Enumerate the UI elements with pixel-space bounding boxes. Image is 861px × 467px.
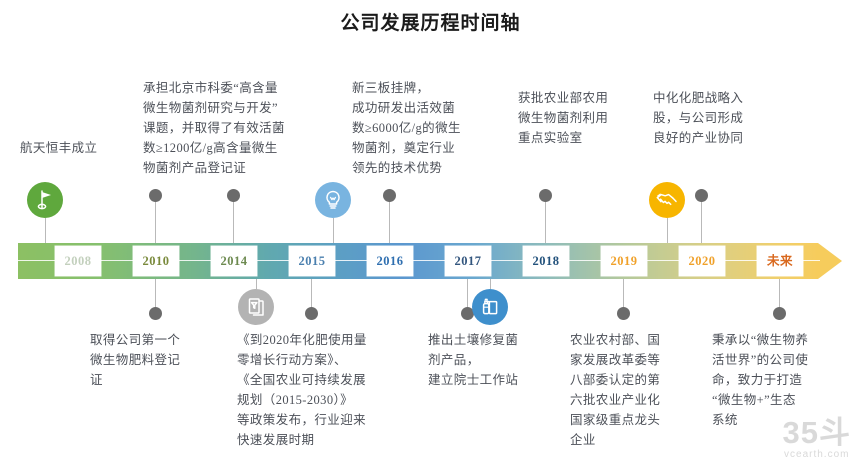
dot-below-2015[interactable] [305, 307, 318, 320]
year-chip-2010[interactable]: 2010 [133, 246, 179, 276]
product-icon[interactable] [472, 289, 508, 325]
connector-stem [701, 200, 702, 244]
dot-below-future[interactable] [773, 307, 786, 320]
watermark-logo: 35斗 [783, 418, 851, 448]
connector-stem [623, 279, 624, 309]
year-chip-2017[interactable]: 2017 [445, 246, 491, 276]
note-2018: 获批农业部农用 微生物菌剂利用 重点实验室 [518, 88, 658, 148]
connector-stem [467, 279, 468, 309]
year-chip-2014[interactable]: 2014 [211, 246, 257, 276]
connector-stem [233, 200, 234, 244]
year-chip-2018[interactable]: 2018 [523, 246, 569, 276]
note-2008: 航天恒丰成立 [20, 138, 140, 158]
connector-stem [333, 218, 334, 244]
note-2020: 中化化肥战略入 股，与公司形成 良好的产业协同 [653, 88, 793, 148]
connector-stem [155, 279, 156, 309]
dot-2010[interactable] [149, 189, 162, 202]
connector-stem [155, 200, 156, 244]
year-chip-未来[interactable]: 未来 [757, 246, 803, 276]
flag-icon[interactable] [27, 182, 63, 218]
year-chip-2020[interactable]: 2020 [679, 246, 725, 276]
connector-stem [311, 279, 312, 309]
timeline-arrow-head [818, 243, 842, 279]
connector-stem [490, 279, 491, 289]
year-chip-2016[interactable]: 2016 [367, 246, 413, 276]
note-below-2017: 推出土壤修复菌 剂产品， 建立院士工作站 [428, 330, 568, 390]
timeline-infographic: 公司发展历程时间轴 航天恒丰成立承担北京市科委“高含量 微生物菌剂研究与开发” … [0, 0, 861, 467]
dot-below-2010[interactable] [149, 307, 162, 320]
connector-stem [256, 279, 257, 289]
document-icon[interactable] [238, 289, 274, 325]
year-chip-2015[interactable]: 2015 [289, 246, 335, 276]
dot-2020[interactable] [695, 189, 708, 202]
dot-2016[interactable] [383, 189, 396, 202]
connector-stem [545, 200, 546, 244]
note-below-2010: 取得公司第一个 微生物肥料登记 证 [90, 330, 220, 390]
connector-stem [45, 218, 46, 244]
note-2010: 承担北京市科委“高含量 微生物菌剂研究与开发” 课题，并取得了有效活菌 数≥12… [143, 78, 343, 178]
watermark-url: vcearth.com [783, 448, 851, 461]
handshake-icon[interactable] [649, 182, 685, 218]
dot-2018[interactable] [539, 189, 552, 202]
connector-stem [389, 200, 390, 244]
note-below-2019: 农业农村部、国 家发展改革委等 八部委认定的第 六批农业产业化 国家级重点龙头 … [570, 330, 705, 450]
watermark: 35斗 vcearth.com [783, 418, 851, 461]
year-chip-2008[interactable]: 2008 [55, 246, 101, 276]
connector-stem [779, 279, 780, 309]
year-chip-2019[interactable]: 2019 [601, 246, 647, 276]
dot-2014[interactable] [227, 189, 240, 202]
note-below-2015: 《到2020年化肥使用量 零增长行动方案》、 《全国农业可持续发展 规划（201… [237, 330, 417, 450]
connector-stem [667, 218, 668, 244]
lightbulb-icon[interactable] [315, 182, 351, 218]
note-2015: 新三板挂牌， 成功研发出活效菌 数≥6000亿/g的微生 物菌剂，奠定行业 领先… [352, 78, 512, 178]
page-title: 公司发展历程时间轴 [0, 8, 861, 35]
dot-below-2019[interactable] [617, 307, 630, 320]
